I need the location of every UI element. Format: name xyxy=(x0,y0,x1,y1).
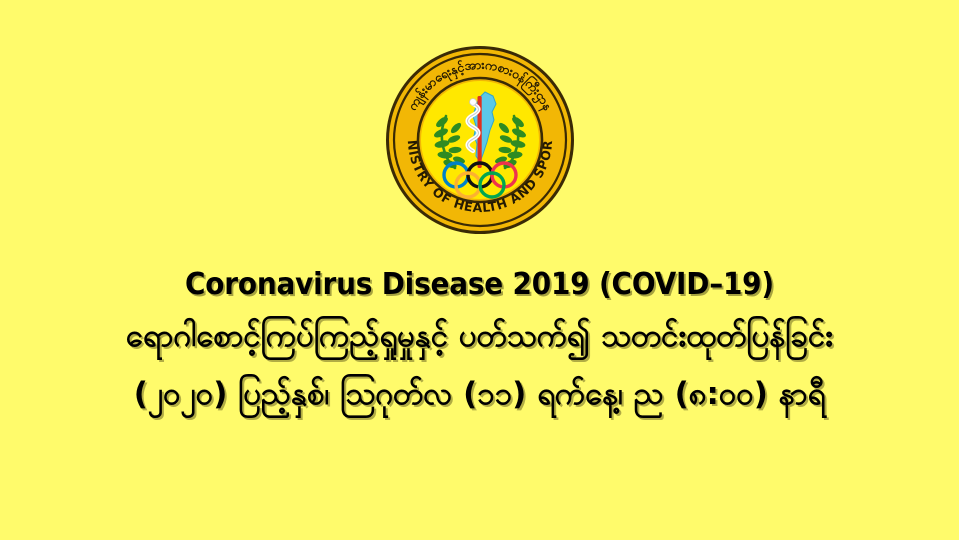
ministry-seal-icon: ကျန်းမာရေးနှင့်အားကစားဝန်ကြီးဌာန MINISTR… xyxy=(384,44,576,236)
burmese-subtitle-line-1: ရောဂါစောင့်ကြပ်ကြည့်ရှုမှုနှင့် ပတ်သက်၍ … xyxy=(0,314,959,358)
english-title: Coronavirus Disease 2019 (COVID–19) xyxy=(34,268,926,302)
ministry-seal-logo: ကျန်းမာရေးနှင့်အားကစားဝန်ကြီးဌာန MINISTR… xyxy=(384,44,576,236)
burmese-subtitle-line-2: (၂၀၂၀) ပြည့်နှစ်၊ သြဂုတ်လ (၁၁) ရက်နေ့၊ ည… xyxy=(0,372,959,416)
headline-block: Coronavirus Disease 2019 (COVID–19) ရောဂ… xyxy=(0,268,959,416)
covid-announcement-slide: ကျန်းမာရေးနှင့်အားကစားဝန်ကြီးဌာန MINISTR… xyxy=(0,0,959,540)
